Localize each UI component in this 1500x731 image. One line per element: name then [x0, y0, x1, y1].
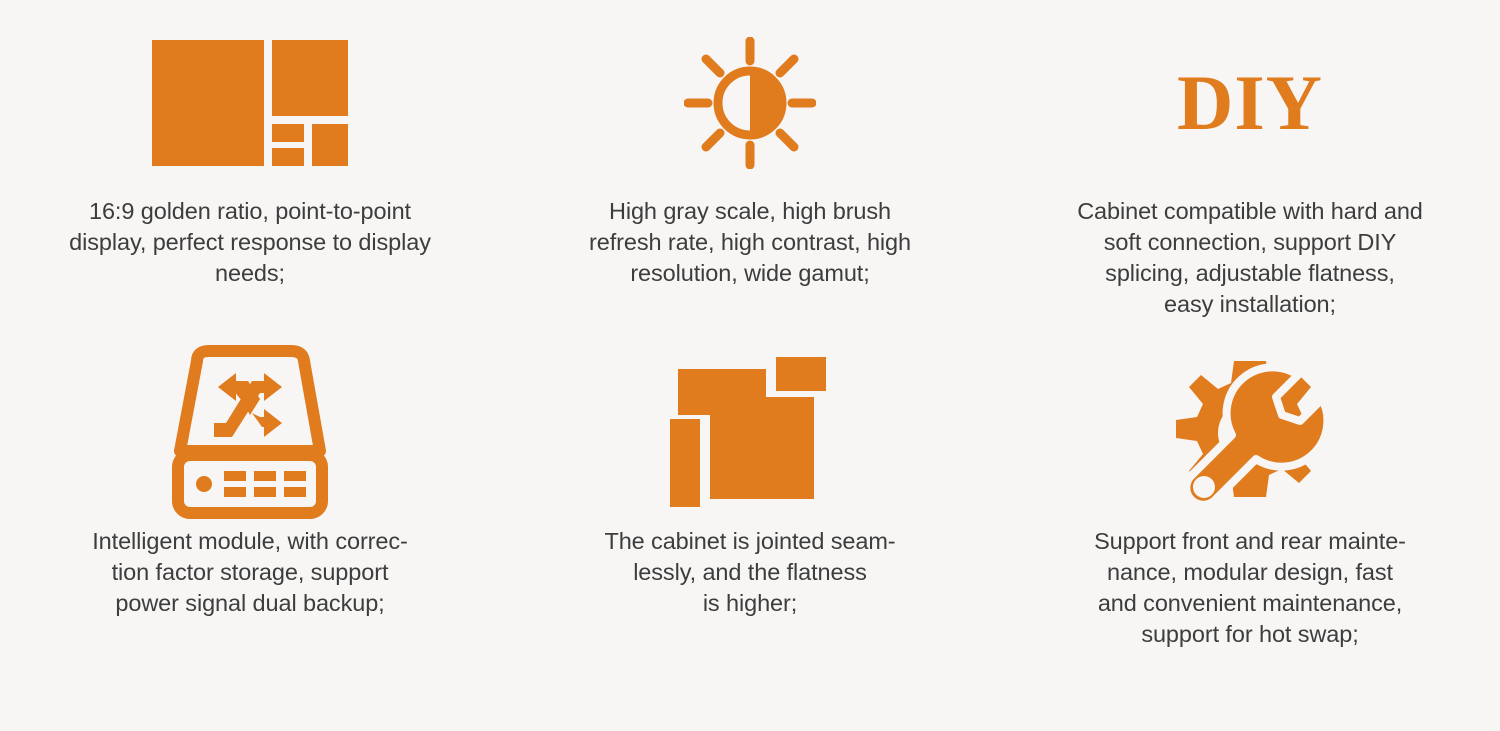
feature-item-intelligent-module: Intelligent module, with correc- tion fa…	[0, 350, 500, 731]
features-grid: 16:9 golden ratio, point-to-point displa…	[0, 0, 1500, 731]
diy-wordmark: DIY	[1177, 28, 1323, 178]
feature-description: 16:9 golden ratio, point-to-point displa…	[69, 196, 431, 289]
feature-item-golden-ratio: 16:9 golden ratio, point-to-point displa…	[0, 0, 500, 350]
feature-description: Support front and rear mainte- nance, mo…	[1094, 526, 1406, 650]
feature-description: The cabinet is jointed seam- lessly, and…	[604, 526, 895, 619]
feature-description: High gray scale, high brush refresh rate…	[589, 196, 911, 289]
gear-wrench-maintenance-icon	[1170, 358, 1330, 508]
feature-item-gray-scale: High gray scale, high brush refresh rate…	[500, 0, 1000, 350]
feature-item-diy: DIY Cabinet compatible with hard and sof…	[1000, 0, 1500, 350]
golden-ratio-layout-icon	[152, 28, 348, 178]
feature-description: Intelligent module, with correc- tion fa…	[92, 526, 408, 619]
feature-description: Cabinet compatible with hard and soft co…	[1077, 196, 1423, 320]
seamless-cabinet-blocks-icon	[670, 358, 830, 508]
brightness-contrast-sun-icon	[684, 28, 816, 178]
feature-item-maintenance: Support front and rear mainte- nance, mo…	[1000, 350, 1500, 731]
feature-item-seamless-cabinet: The cabinet is jointed seam- lessly, and…	[500, 350, 1000, 731]
diy-label: DIY	[1177, 60, 1323, 146]
intelligent-module-switch-icon	[164, 358, 336, 508]
shuffle-arrows	[214, 373, 282, 437]
